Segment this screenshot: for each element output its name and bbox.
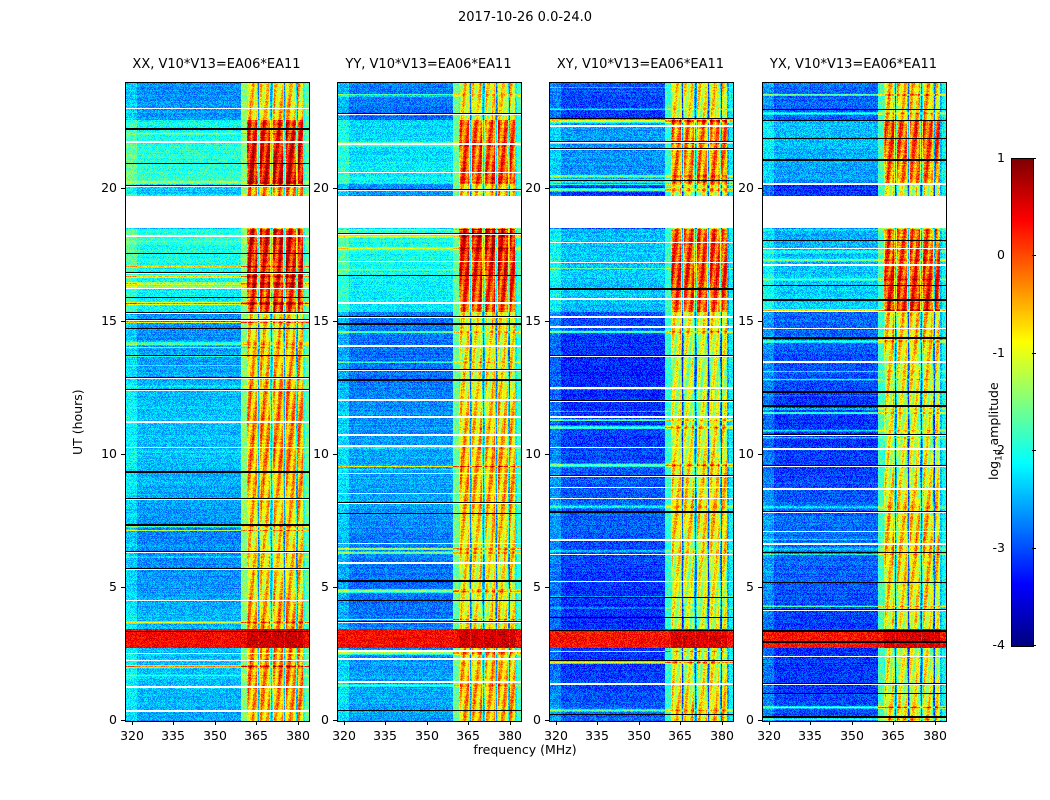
colorbar-tick-mark: [1032, 353, 1036, 354]
x-tick-mark: [769, 721, 770, 725]
y-tick-label: 0: [513, 712, 541, 727]
y-tick-label: 20: [726, 180, 754, 195]
x-tick-label: 335: [790, 728, 830, 743]
y-tick-mark: [121, 321, 125, 322]
y-tick-mark: [758, 188, 762, 189]
x-tick-label: 380: [278, 728, 318, 743]
y-tick-mark: [333, 454, 337, 455]
x-tick-label: 335: [153, 728, 193, 743]
panel-title-xy: XY, V10*V13=EA06*EA11: [549, 57, 732, 72]
waterfall-image-yy: [338, 83, 521, 721]
y-tick-mark: [758, 321, 762, 322]
colorbar-label: log10 amplitude: [986, 382, 1005, 480]
x-tick-label: 380: [915, 728, 955, 743]
y-tick-mark: [121, 188, 125, 189]
waterfall-panel-xy[interactable]: [549, 82, 734, 722]
y-tick-mark: [545, 587, 549, 588]
x-tick-mark: [385, 721, 386, 725]
colorbar-tick-mark: [1032, 255, 1036, 256]
y-tick-label: 15: [89, 313, 117, 328]
x-tick-label: 380: [490, 728, 530, 743]
panel-title-yx: YX, V10*V13=EA06*EA11: [762, 57, 945, 72]
x-tick-mark: [468, 721, 469, 725]
x-tick-mark: [510, 721, 511, 725]
colorbar-tick-label: 0: [975, 247, 1005, 262]
y-tick-label: 15: [301, 313, 329, 328]
y-tick-label: 0: [89, 712, 117, 727]
y-tick-label: 5: [301, 579, 329, 594]
x-tick-label: 320: [324, 728, 364, 743]
colorbar-label-sub: 10: [995, 449, 1005, 460]
y-tick-mark: [758, 454, 762, 455]
x-tick-mark: [722, 721, 723, 725]
y-tick-label: 15: [726, 313, 754, 328]
x-tick-label: 365: [873, 728, 913, 743]
x-tick-label: 350: [619, 728, 659, 743]
x-tick-mark: [852, 721, 853, 725]
y-tick-mark: [545, 454, 549, 455]
x-tick-label: 350: [832, 728, 872, 743]
y-tick-label: 10: [513, 446, 541, 461]
figure-suptitle: 2017-10-26 0.0-24.0: [0, 10, 1050, 25]
x-tick-label: 335: [577, 728, 617, 743]
y-tick-label: 5: [726, 579, 754, 594]
y-tick-mark: [121, 587, 125, 588]
figure-canvas: 2017-10-26 0.0-24.0 frequency (MHz) -4-3…: [0, 0, 1050, 800]
y-tick-label: 20: [89, 180, 117, 195]
y-tick-label: 20: [513, 180, 541, 195]
colorbar-tick-mark: [1032, 645, 1036, 646]
x-tick-mark: [427, 721, 428, 725]
y-tick-mark: [545, 321, 549, 322]
y-tick-label: 15: [513, 313, 541, 328]
colorbar-label-prefix: log: [986, 461, 1001, 480]
colorbar-tick-mark: [1032, 158, 1036, 159]
y-tick-label: 0: [301, 712, 329, 727]
x-tick-mark: [680, 721, 681, 725]
colorbar-tick-label: -1: [975, 345, 1005, 360]
y-tick-mark: [333, 720, 337, 721]
waterfall-image-xx: [126, 83, 309, 721]
y-tick-label: 5: [513, 579, 541, 594]
colorbar-tick-label: -3: [975, 540, 1005, 555]
x-tick-mark: [298, 721, 299, 725]
x-axis-label: frequency (MHz): [0, 742, 1050, 757]
colorbar-tick-mark: [1032, 548, 1036, 549]
x-tick-label: 365: [448, 728, 488, 743]
y-tick-label: 0: [726, 712, 754, 727]
panel-title-yy: YY, V10*V13=EA06*EA11: [337, 57, 520, 72]
y-tick-label: 10: [726, 446, 754, 461]
y-tick-mark: [545, 188, 549, 189]
waterfall-panel-xx[interactable]: [125, 82, 310, 722]
colorbar-tick-mark: [1032, 450, 1036, 451]
x-tick-label: 350: [195, 728, 235, 743]
x-tick-mark: [344, 721, 345, 725]
y-tick-label: 20: [301, 180, 329, 195]
x-tick-label: 320: [749, 728, 789, 743]
x-tick-mark: [256, 721, 257, 725]
x-tick-label: 320: [112, 728, 152, 743]
waterfall-image-yx: [763, 83, 946, 721]
x-tick-label: 320: [536, 728, 576, 743]
y-tick-mark: [333, 188, 337, 189]
y-tick-label: 10: [301, 446, 329, 461]
x-tick-label: 335: [365, 728, 405, 743]
x-tick-label: 380: [702, 728, 742, 743]
x-tick-mark: [810, 721, 811, 725]
x-tick-mark: [597, 721, 598, 725]
colorbar-tick-label: -4: [975, 637, 1005, 652]
x-tick-label: 350: [407, 728, 447, 743]
y-tick-mark: [758, 720, 762, 721]
waterfall-panel-yx[interactable]: [762, 82, 947, 722]
y-tick-mark: [333, 587, 337, 588]
y-tick-mark: [121, 720, 125, 721]
colorbar-label-suffix: amplitude: [986, 382, 1001, 449]
colorbar: [1011, 158, 1034, 647]
y-tick-label: 5: [89, 579, 117, 594]
y-tick-mark: [333, 321, 337, 322]
y-tick-mark: [758, 587, 762, 588]
colorbar-gradient: [1012, 159, 1033, 646]
x-tick-label: 365: [660, 728, 700, 743]
x-tick-mark: [173, 721, 174, 725]
waterfall-image-xy: [550, 83, 733, 721]
colorbar-tick-label: 1: [975, 150, 1005, 165]
panel-title-xx: XX, V10*V13=EA06*EA11: [125, 57, 308, 72]
x-tick-mark: [215, 721, 216, 725]
waterfall-panel-yy[interactable]: [337, 82, 522, 722]
y-axis-label: UT (hours): [70, 389, 85, 455]
x-tick-mark: [132, 721, 133, 725]
x-tick-mark: [556, 721, 557, 725]
y-tick-label: 10: [89, 446, 117, 461]
y-tick-mark: [121, 454, 125, 455]
x-tick-mark: [639, 721, 640, 725]
x-tick-mark: [893, 721, 894, 725]
y-tick-mark: [545, 720, 549, 721]
x-tick-label: 365: [236, 728, 276, 743]
x-tick-mark: [935, 721, 936, 725]
